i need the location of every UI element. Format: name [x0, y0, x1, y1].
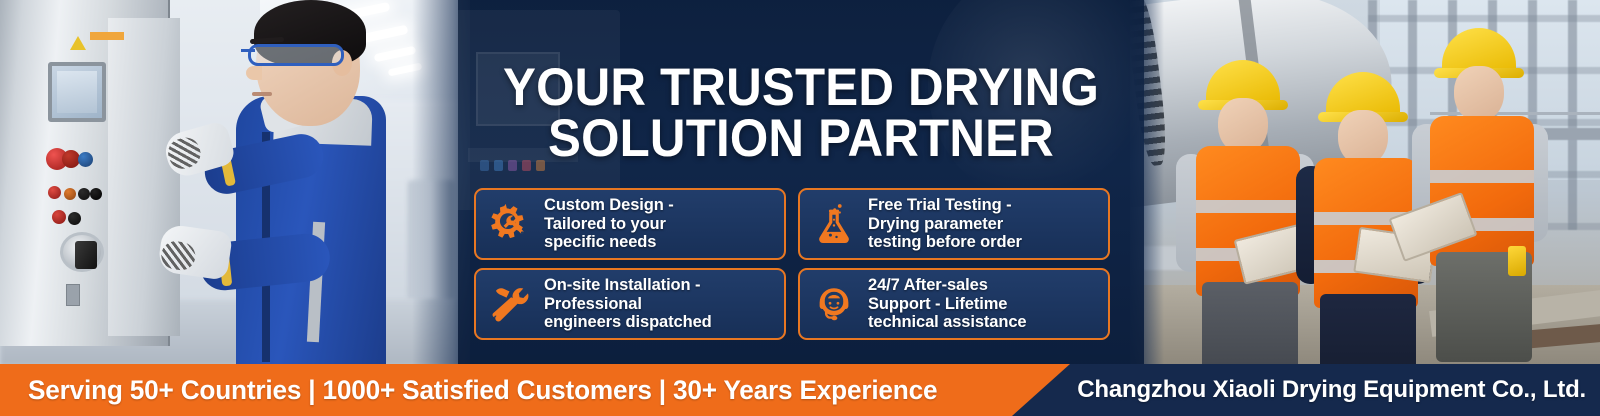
safety-glasses: [248, 44, 344, 66]
feature-text: On-site Installation - Professional engi…: [544, 276, 712, 331]
page-title: YOUR TRUSTED DRYING SOLUTION PARTNER: [482, 62, 1120, 165]
panel-button: [52, 210, 66, 224]
warning-triangle-icon: [70, 36, 86, 50]
control-dial: [60, 232, 104, 272]
feature-line-3: engineers dispatched: [544, 313, 712, 331]
headset-support-icon: [810, 281, 858, 327]
feature-card-onsite-installation[interactable]: On-site Installation - Professional engi…: [474, 268, 786, 340]
feature-text: 24/7 After-sales Support - Lifetime tech…: [868, 276, 1027, 331]
feature-line-3: technical assistance: [868, 313, 1027, 331]
hammer-wrench-icon: [486, 281, 534, 327]
cabinet-label-strip: [90, 32, 124, 40]
feature-line-3: testing before order: [868, 233, 1022, 251]
company-name: Changzhou Xiaoli Drying Equipment Co., L…: [1077, 364, 1586, 416]
feature-line-1: On-site Installation -: [544, 276, 700, 294]
feature-line-1: Custom Design -: [544, 196, 674, 214]
feature-text: Custom Design - Tailored to your specifi…: [544, 196, 674, 251]
feature-line-1: Free Trial Testing -: [868, 196, 1011, 214]
bottom-stats-bar: Serving 50+ Countries | 1000+ Satisfied …: [0, 364, 1600, 416]
panel-button: [64, 188, 76, 200]
belt-radio: [1508, 246, 1526, 276]
engineer-legs: [1202, 282, 1298, 366]
hmi-screen: [48, 62, 106, 122]
feature-text: Free Trial Testing - Drying parameter te…: [868, 196, 1022, 251]
worker-mouth: [252, 92, 272, 96]
cabinet-slot: [66, 284, 80, 306]
gear-wrench-icon: [486, 201, 534, 247]
flask-icon: [810, 201, 858, 247]
marketing-banner: YOUR TRUSTED DRYING SOLUTION PARTNER Cus…: [0, 0, 1600, 416]
feature-line-2: Support - Lifetime: [868, 295, 1007, 313]
feature-grid: Custom Design - Tailored to your specifi…: [474, 188, 1126, 340]
headline-line-1: YOUR TRUSTED DRYING: [503, 58, 1099, 117]
feature-card-custom-design[interactable]: Custom Design - Tailored to your specifi…: [474, 188, 786, 260]
technician-figure: [170, 0, 400, 366]
feature-line-2: Professional: [544, 295, 642, 313]
right-photo-engineers: [1130, 0, 1600, 366]
feature-card-free-trial-testing[interactable]: Free Trial Testing - Drying parameter te…: [798, 188, 1110, 260]
feature-line-1: 24/7 After-sales: [868, 276, 988, 294]
engineer-legs: [1320, 294, 1416, 366]
panel-button: [78, 152, 93, 167]
feature-line-2: Drying parameter: [868, 215, 1003, 233]
panel-button: [90, 188, 102, 200]
engineer-figure: [1412, 32, 1576, 362]
feature-card-after-sales-support[interactable]: 24/7 After-sales Support - Lifetime tech…: [798, 268, 1110, 340]
panel-button: [48, 186, 61, 199]
panel-button: [78, 188, 90, 200]
stats-text: Serving 50+ Countries | 1000+ Satisfied …: [28, 364, 937, 416]
center-content-panel: YOUR TRUSTED DRYING SOLUTION PARTNER Cus…: [458, 0, 1144, 366]
engineer-face: [1454, 66, 1504, 122]
feature-line-2: Tailored to your: [544, 215, 666, 233]
left-photo-technician: [0, 0, 470, 366]
headline-line-2: SOLUTION PARTNER: [482, 113, 1120, 164]
feature-line-3: specific needs: [544, 233, 656, 251]
worker-nose: [246, 66, 262, 80]
panel-button: [68, 212, 81, 225]
